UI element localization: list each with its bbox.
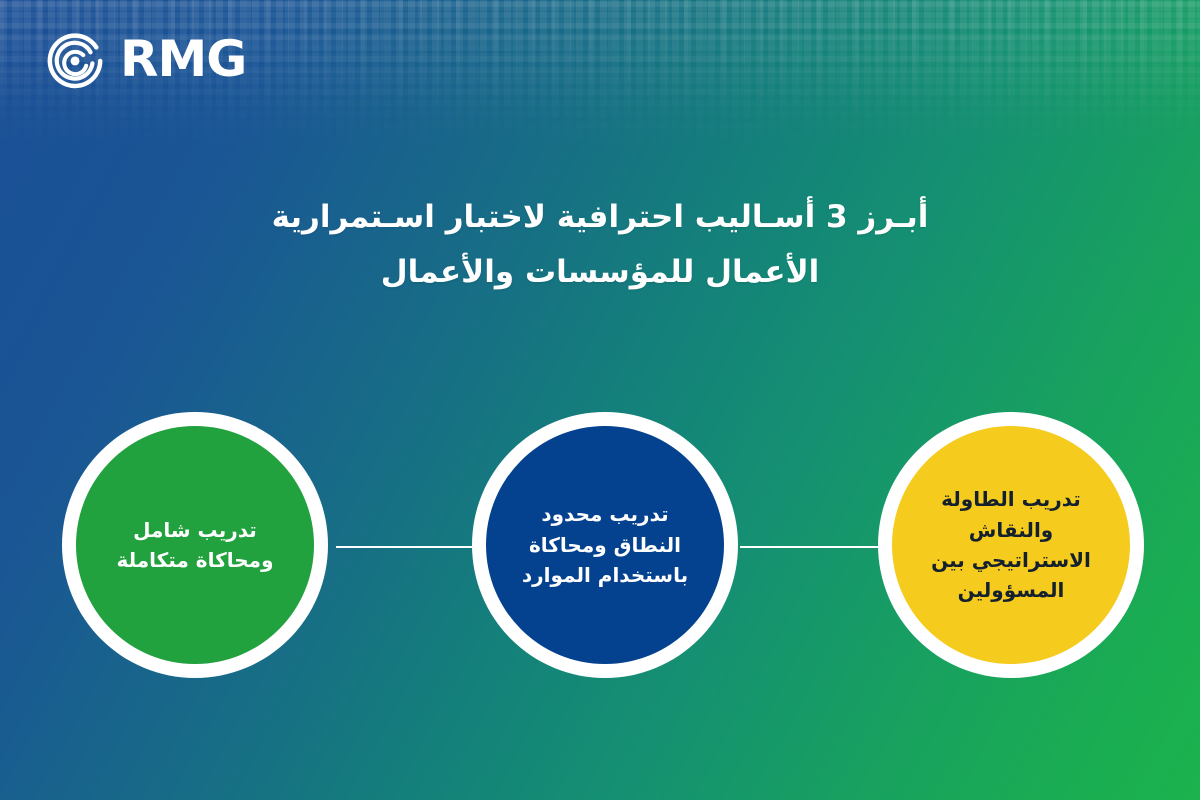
connector-line-green-blue	[336, 546, 492, 548]
page-title-line-2: الأعمال للمؤسسات والأعمال	[250, 245, 950, 300]
infographic-canvas: RMG أبـرز 3 أسـاليب احترافية لاختبار اسـ…	[0, 0, 1200, 800]
node-circle-green[interactable]: تدريب شامل ومحاكاة متكاملة	[62, 412, 328, 678]
node-circle-blue[interactable]: تدريب محدود النطاق ومحاكاة باستخدام المو…	[472, 412, 738, 678]
rmg-spiral-icon	[44, 28, 106, 90]
node-label-green: تدريب شامل ومحاكاة متكاملة	[102, 515, 288, 576]
page-title: أبـرز 3 أسـاليب احترافية لاختبار اسـتمرا…	[250, 190, 950, 300]
node-fill-green: تدريب شامل ومحاكاة متكاملة	[76, 426, 314, 664]
node-fill-yellow: تدريب الطاولة والنقاش الاستراتيجي بين ال…	[892, 426, 1130, 664]
brand-logo[interactable]: RMG	[44, 28, 246, 90]
page-title-line-1: أبـرز 3 أسـاليب احترافية لاختبار اسـتمرا…	[250, 190, 950, 245]
connector-line-blue-yellow	[740, 546, 896, 548]
node-label-yellow: تدريب الطاولة والنقاش الاستراتيجي بين ال…	[918, 484, 1104, 606]
brand-name: RMG	[120, 34, 246, 84]
node-label-blue: تدريب محدود النطاق ومحاكاة باستخدام المو…	[512, 499, 698, 590]
node-fill-blue: تدريب محدود النطاق ومحاكاة باستخدام المو…	[486, 426, 724, 664]
node-circle-yellow[interactable]: تدريب الطاولة والنقاش الاستراتيجي بين ال…	[878, 412, 1144, 678]
